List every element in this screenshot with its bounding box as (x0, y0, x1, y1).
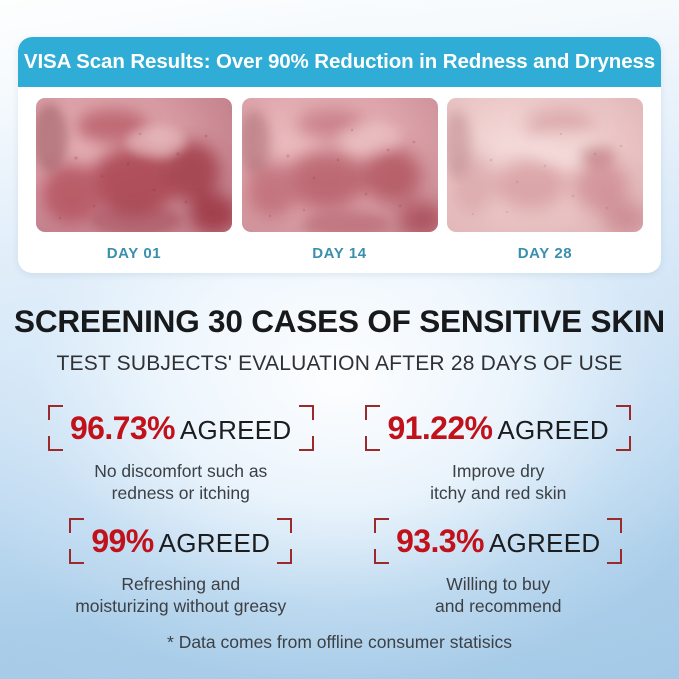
visa-scan-photo-strip: DAY 01 (18, 87, 661, 262)
visa-scan-banner-title: VISA Scan Results: Over 90% Reduction in… (24, 50, 655, 74)
stat-description-line-2: itchy and red skin (430, 482, 566, 504)
stat-description-line-1: No discomfort such as (94, 460, 267, 482)
bracket-top-left-icon (374, 518, 389, 533)
scan-caption-day-01: DAY 01 (107, 245, 161, 262)
stat-headline: 93.3%AGREED (374, 517, 622, 564)
scan-caption-day-28: DAY 28 (518, 245, 572, 262)
bracket-bottom-right-icon (299, 436, 314, 451)
stat-description-line-1: Willing to buy (435, 573, 561, 595)
bracket-bottom-right-icon (616, 436, 631, 451)
scan-panel-day-01: DAY 01 (36, 98, 232, 262)
stat-description: Improve dry itchy and red skin (430, 460, 566, 505)
visa-scan-card: VISA Scan Results: Over 90% Reduction in… (18, 37, 661, 273)
scan-panel-day-14: DAY 14 (242, 98, 438, 262)
stat-percent: 99% (91, 523, 153, 559)
page-title: SCREENING 30 CASES OF SENSITIVE SKIN (0, 303, 679, 340)
stat-description-line-1: Refreshing and (75, 573, 286, 595)
bracket-bottom-left-icon (69, 549, 84, 564)
infographic-page: VISA Scan Results: Over 90% Reduction in… (0, 0, 679, 679)
bracket-top-right-icon (607, 518, 622, 533)
stat-headline: 99%AGREED (69, 517, 292, 564)
scan-panel-day-28: DAY 28 (447, 98, 643, 262)
stat-card-no-discomfort: 96.73%AGREED No discomfort such as redne… (22, 404, 340, 505)
stat-description: No discomfort such as redness or itching (94, 460, 267, 505)
stat-card-willing-to-buy: 93.3%AGREED Willing to buy and recommend (340, 517, 658, 618)
stat-card-refreshing: 99%AGREED Refreshing and moisturizing wi… (22, 517, 340, 618)
stat-headline: 96.73%AGREED (48, 404, 314, 451)
stat-description-line-2: moisturizing without greasy (75, 595, 286, 617)
stat-percent: 93.3% (396, 523, 484, 559)
data-source-footnote: * Data comes from offline consumer stati… (0, 632, 679, 653)
stat-agreed-label: AGREED (180, 415, 292, 445)
bracket-top-right-icon (299, 405, 314, 420)
stats-grid: 96.73%AGREED No discomfort such as redne… (22, 404, 657, 618)
stat-percent: 91.22% (387, 410, 492, 446)
stat-description: Refreshing and moisturizing without grea… (75, 573, 286, 618)
stat-description: Willing to buy and recommend (435, 573, 561, 618)
stat-agreed-label: AGREED (489, 528, 601, 558)
skin-scan-image-day-28 (447, 98, 643, 232)
bracket-top-right-icon (616, 405, 631, 420)
page-subtitle: TEST SUBJECTS' EVALUATION AFTER 28 DAYS … (0, 352, 679, 376)
bracket-bottom-left-icon (365, 436, 380, 451)
stat-agreed-label: AGREED (497, 415, 609, 445)
stat-card-improve-dry-skin: 91.22%AGREED Improve dry itchy and red s… (340, 404, 658, 505)
scan-caption-day-14: DAY 14 (312, 245, 366, 262)
stat-agreed-label: AGREED (159, 528, 271, 558)
bracket-bottom-left-icon (374, 549, 389, 564)
bracket-top-left-icon (69, 518, 84, 533)
bracket-bottom-right-icon (277, 549, 292, 564)
skin-scan-image-day-14 (242, 98, 438, 232)
bracket-top-left-icon (48, 405, 63, 420)
stat-description-line-2: redness or itching (94, 482, 267, 504)
bracket-bottom-right-icon (607, 549, 622, 564)
bracket-top-left-icon (365, 405, 380, 420)
stat-headline: 91.22%AGREED (365, 404, 631, 451)
bracket-top-right-icon (277, 518, 292, 533)
bracket-bottom-left-icon (48, 436, 63, 451)
visa-scan-banner: VISA Scan Results: Over 90% Reduction in… (18, 37, 661, 87)
skin-scan-image-day-01 (36, 98, 232, 232)
stat-description-line-1: Improve dry (430, 460, 566, 482)
stat-description-line-2: and recommend (435, 595, 561, 617)
stat-percent: 96.73% (70, 410, 175, 446)
